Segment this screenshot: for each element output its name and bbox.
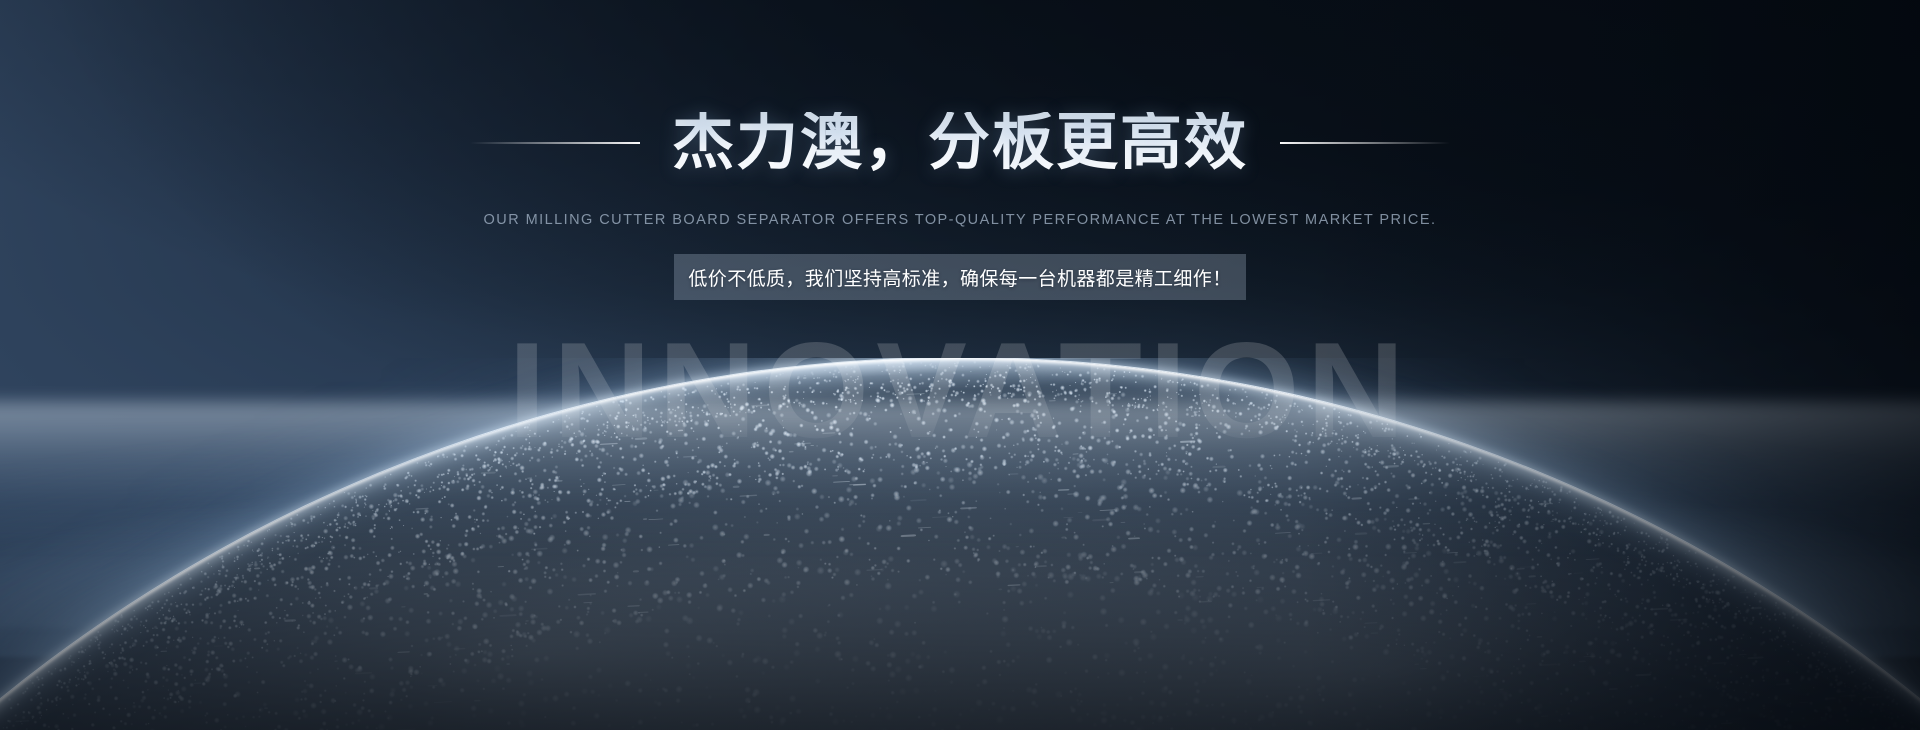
hero-subtitle: OUR MILLING CUTTER BOARD SEPARATOR OFFER… <box>0 212 1920 228</box>
earth-horizon <box>0 358 1920 730</box>
title-row: 杰力澳，分板更高效 <box>0 112 1920 174</box>
hero-content: 杰力澳，分板更高效 OUR MILLING CUTTER BOARD SEPAR… <box>0 0 1920 300</box>
title-rule-right-icon <box>1280 142 1450 144</box>
hero-banner: INNOVATION 杰力澳，分板更高效 OUR MILLING CUTTER … <box>0 0 1920 730</box>
earth-surface <box>0 358 1920 730</box>
tagline-banner: 低价不低质，我们坚持高标准，确保每一台机器都是精工细作！ <box>674 254 1246 300</box>
page-title: 杰力澳，分板更高效 <box>672 112 1248 174</box>
tagline-wrap: 低价不低质，我们坚持高标准，确保每一台机器都是精工细作！ <box>0 254 1920 300</box>
title-rule-left-icon <box>470 142 640 144</box>
